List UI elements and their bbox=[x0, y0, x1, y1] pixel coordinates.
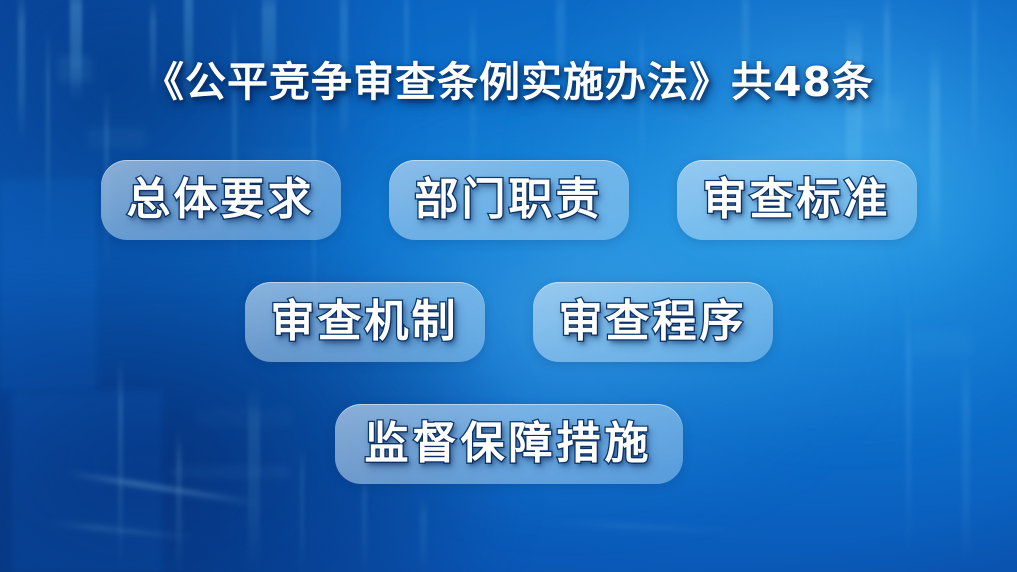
pill-review-standards[interactable]: 审查标准 bbox=[677, 160, 917, 240]
pill-review-mechanism[interactable]: 审查机制 bbox=[245, 282, 485, 362]
pill-label: 部门职责 bbox=[415, 178, 603, 222]
pill-label: 审查机制 bbox=[271, 300, 459, 344]
pill-row-3: 监督保障措施 bbox=[0, 404, 1017, 484]
pill-rows: 总体要求 部门职责 审查标准 审查机制 审查程序 监督保障措 bbox=[0, 160, 1017, 484]
pill-label: 监督保障措施 bbox=[365, 422, 653, 466]
pill-overall-requirements[interactable]: 总体要求 bbox=[101, 160, 341, 240]
pill-label: 审查标准 bbox=[703, 178, 891, 222]
pill-supervision-guarantee-measures[interactable]: 监督保障措施 bbox=[335, 404, 683, 484]
pill-label: 总体要求 bbox=[127, 178, 315, 222]
page-title: 《公平竞争审查条例实施办法》共48条 bbox=[0, 58, 1017, 107]
infographic-slide: 《公平竞争审查条例实施办法》共48条 总体要求 部门职责 审查标准 审查机制 审 bbox=[0, 0, 1017, 572]
pill-row-2: 审查机制 审查程序 bbox=[0, 282, 1017, 362]
pill-row-1: 总体要求 部门职责 审查标准 bbox=[0, 160, 1017, 240]
pill-department-duties[interactable]: 部门职责 bbox=[389, 160, 629, 240]
slide-content: 《公平竞争审查条例实施办法》共48条 总体要求 部门职责 审查标准 审查机制 审 bbox=[0, 0, 1017, 572]
pill-review-procedure[interactable]: 审查程序 bbox=[533, 282, 773, 362]
pill-label: 审查程序 bbox=[559, 300, 747, 344]
